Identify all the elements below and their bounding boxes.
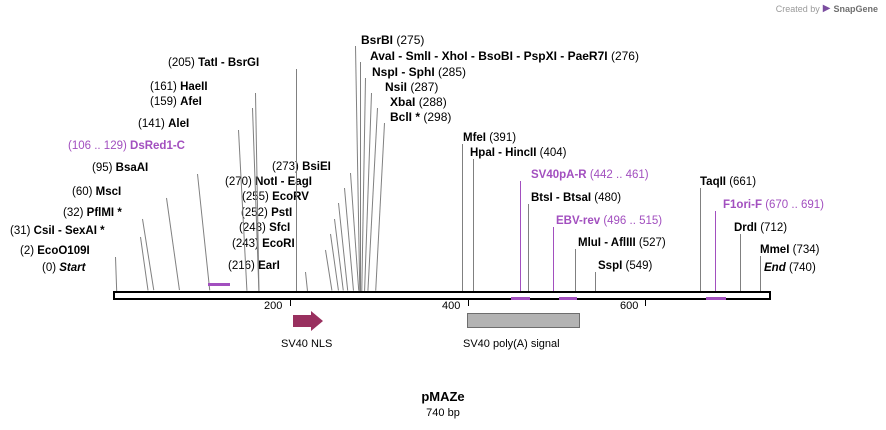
enzyme-label-bsrbi[interactable]: BsrBI (275) [361,34,424,46]
snapgene-logo-icon: ▶ [823,4,831,14]
credit-brand: SnapGene [833,4,878,14]
plasmid-backbone [113,291,771,300]
enzyme-label-sspi[interactable]: SspI (549) [598,260,652,272]
leader-line-primer [520,181,521,298]
enzyme-label-eari[interactable]: (216) EarI [228,260,280,272]
leader-line [325,250,332,291]
primer-label-dsred1-c[interactable]: (106 .. 129) DsRed1-C [68,140,185,152]
leader-line [473,159,474,291]
plasmid-map: Created by ▶ SnapGene (2) EcoO109I (31) … [0,0,886,430]
leader-line [142,219,154,290]
enzyme-label-haeii[interactable]: (161) HaeII [150,81,208,93]
leader-line [528,204,529,291]
enzyme-label-avai-group[interactable]: AvaI - SmlI - XhoI - BsoBI - PspXI - Pae… [370,50,639,62]
enzyme-label-tati-bsrgi[interactable]: (205) TatI - BsrGI [168,57,259,69]
leader-line-primer [553,227,554,298]
arrow-icon [293,311,323,331]
enzyme-label-ecorv[interactable]: (255) EcoRV [242,191,309,203]
feature-label-sv40-polya-signal: SV40 poly(A) signal [463,338,560,350]
feature-sv40-polya-signal[interactable] [467,313,580,328]
enzyme-label-csii-sexai[interactable]: (31) CsiI - SexAI * [10,225,105,237]
primer-bar-f1ori-f[interactable] [706,297,726,300]
leader-line [760,256,761,291]
enzyme-label-bcli[interactable]: BclI * (298) [390,111,451,123]
ruler-tick-600 [645,300,646,306]
leader-line [740,234,741,291]
leader-line [595,272,596,291]
leader-line [197,174,210,290]
enzyme-label-nsii[interactable]: NsiI (287) [385,81,438,93]
credit-prefix: Created by [776,4,820,14]
leader-line [305,272,308,291]
enzyme-label-nspi-sphi[interactable]: NspI - SphI (285) [372,66,466,78]
feature-sv40-nls[interactable] [293,311,323,336]
enzyme-label-afei[interactable]: (159) AfeI [150,96,202,108]
leader-line-primer [715,211,716,298]
enzyme-label-pflmi[interactable]: (32) PflMI * [63,207,122,219]
snapgene-credit: Created by ▶ SnapGene [776,4,878,14]
ruler-tick-200 [290,300,291,306]
start-label: (0) Start [42,262,85,274]
enzyme-label-noti-eagi[interactable]: (270) NotI - EagI [225,176,312,188]
enzyme-label-eco0109i[interactable]: (2) EcoO109I [20,245,90,257]
enzyme-label-btsi-btsai[interactable]: BtsI - BtsaI (480) [531,192,621,204]
primer-bar-sv40pa-r[interactable] [511,297,530,300]
enzyme-label-ecori[interactable]: (243) EcoRI [232,238,295,250]
feature-label-sv40-nls: SV40 NLS [281,338,332,350]
enzyme-label-hpai-hincii[interactable]: HpaI - HincII (404) [470,147,567,159]
end-label: End (740) [764,262,816,274]
enzyme-label-mlui-afliii[interactable]: MluI - AflIII (527) [578,237,666,249]
primer-bar-dsred1-c[interactable] [208,283,230,286]
leader-line [700,188,701,291]
enzyme-label-drdi[interactable]: DrdI (712) [734,222,787,234]
backbone-start-cap [113,291,115,300]
enzyme-label-sfci[interactable]: (248) SfcI [239,222,290,234]
plasmid-name: pMAZe [0,389,886,404]
primer-label-ebv-rev[interactable]: EBV-rev (496 .. 515) [556,215,662,227]
ruler-label-200: 200 [264,300,282,312]
leader-line [166,198,180,290]
enzyme-label-mmei[interactable]: MmeI (734) [760,244,819,256]
enzyme-label-psti[interactable]: (252) PstI [241,207,292,219]
leader-line [575,249,576,291]
plasmid-size: 740 bp [0,407,886,419]
leader-line [296,69,297,291]
leader-line [375,123,385,291]
leader-line [462,144,463,291]
primer-label-sv40pa-r[interactable]: SV40pA-R (442 .. 461) [531,169,649,181]
enzyme-label-msci[interactable]: (60) MscI [72,186,121,198]
primer-bar-ebv-rev[interactable] [559,297,577,300]
enzyme-label-xbai[interactable]: XbaI (288) [390,96,447,108]
backbone-end-cap [769,291,771,300]
enzyme-label-alei[interactable]: (141) AleI [138,118,189,130]
enzyme-label-mfei[interactable]: MfeI (391) [463,132,516,144]
leader-line [360,62,361,291]
ruler-tick-400 [468,300,469,306]
enzyme-label-bsaai[interactable]: (95) BsaAI [92,162,148,174]
enzyme-label-taqii[interactable]: TaqII (661) [700,176,756,188]
ruler-label-600: 600 [620,300,638,312]
ruler-label-400: 400 [442,300,460,312]
primer-label-f1ori-f[interactable]: F1ori-F (670 .. 691) [723,199,824,211]
enzyme-label-bsiei[interactable]: (273) BsiEI [272,161,331,173]
leader-line [115,257,117,291]
